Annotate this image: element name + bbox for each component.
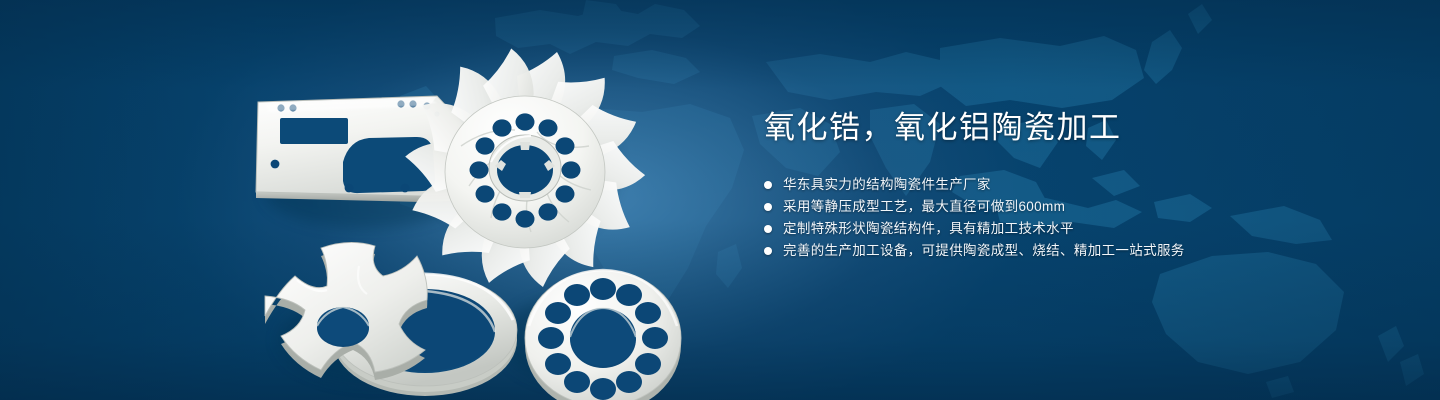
feature-item-1: 华东具实力的结构陶瓷件生产厂家: [764, 174, 1404, 196]
ceramic-perforated-disc: [525, 270, 681, 400]
feature-text-4: 完善的生产加工设备，可提供陶瓷成型、烧结、精加工一站式服务: [783, 240, 1185, 262]
feature-item-3: 定制特殊形状陶瓷结构件，具有精加工技术水平: [764, 218, 1404, 240]
product-image: [225, 40, 745, 385]
feature-item-4: 完善的生产加工设备，可提供陶瓷成型、烧结、精加工一站式服务: [764, 240, 1404, 262]
ceramic-impeller: [404, 45, 647, 290]
feature-item-2: 采用等静压成型工艺，最大直径可做到600mm: [764, 196, 1404, 218]
bullet-dot-icon: [764, 247, 772, 255]
feature-text-1: 华东具实力的结构陶瓷件生产厂家: [783, 174, 991, 196]
hero-banner: 氧化锆，氧化铝陶瓷加工 华东具实力的结构陶瓷件生产厂家 采用等静压成型工艺，最大…: [0, 0, 1440, 400]
bullet-dot-icon: [764, 203, 772, 211]
bullet-dot-icon: [764, 225, 772, 233]
banner-headline: 氧化锆，氧化铝陶瓷加工: [764, 106, 1404, 150]
feature-list: 华东具实力的结构陶瓷件生产厂家 采用等静压成型工艺，最大直径可做到600mm 定…: [764, 174, 1404, 262]
feature-text-3: 定制特殊形状陶瓷结构件，具有精加工技术水平: [783, 218, 1074, 240]
banner-copy: 氧化锆，氧化铝陶瓷加工 华东具实力的结构陶瓷件生产厂家 采用等静压成型工艺，最大…: [764, 106, 1404, 262]
bullet-dot-icon: [764, 181, 772, 189]
feature-text-2: 采用等静压成型工艺，最大直径可做到600mm: [783, 196, 1065, 218]
